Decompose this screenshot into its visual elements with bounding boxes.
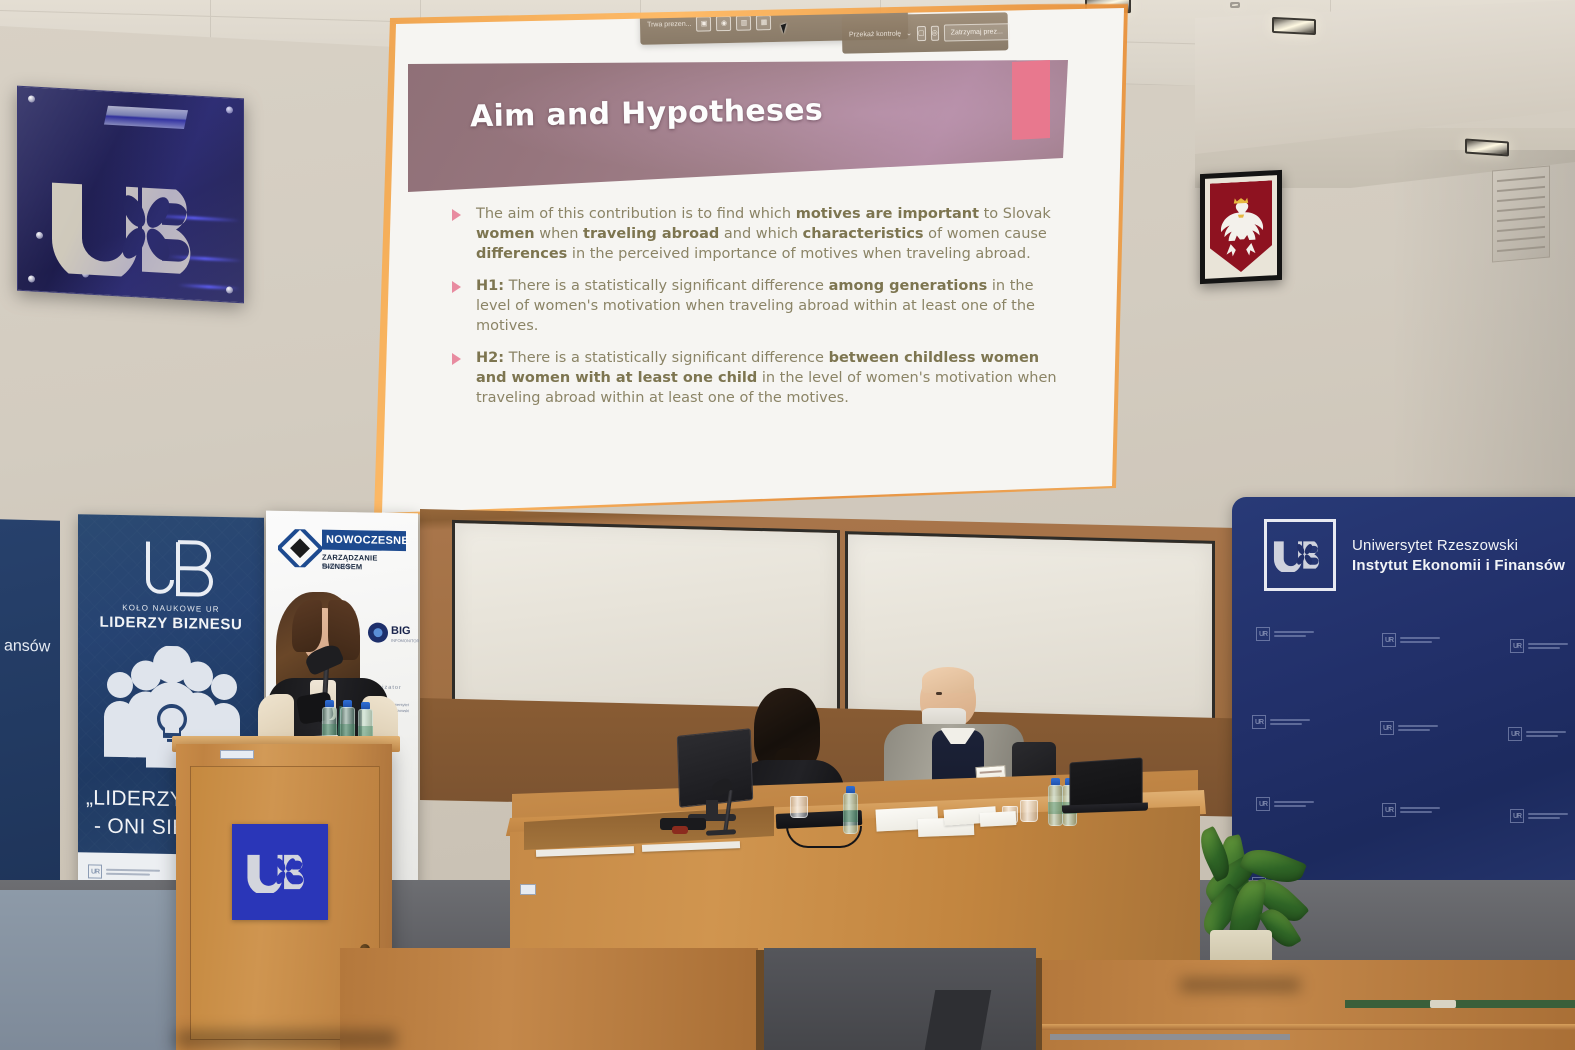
plaque-light-strip [104,106,188,129]
bullet-text: H2: There is a statistically significant… [476,348,1070,408]
banner-ur-watermark-5: UR [1380,721,1438,735]
drinking-glass [790,796,808,818]
presenter-toolbar-secondary[interactable]: Przekaż kontrolę ⌄ ▢ ◎ Zatrzymaj prez... [842,12,1009,53]
slide-bullet-h1: H1: There is a statistically significant… [450,276,1070,336]
podium-ur-logo-mark [245,851,315,893]
footer-ur-logo: UR [88,864,102,878]
slide-body: The aim of this contribution is to find … [450,204,1070,420]
watermark-ur-logo: UR [1382,803,1396,817]
podium-ur-logo [232,824,328,920]
share-screen-icon[interactable]: ▣ [696,16,711,31]
ur-logo-mark [46,176,218,282]
laptop-screen [1069,757,1142,807]
panelist-right-eye [936,692,942,695]
speaker-hair-front-left [292,600,322,652]
ceiling-light-2 [1272,17,1316,35]
slide-pink-accent [1012,60,1050,140]
stage-gap-floor [764,948,1036,1050]
panelist-right-bald-crown [922,667,974,693]
desk-paper-4 [980,811,1017,827]
camera-icon[interactable]: ◎ [930,25,938,40]
watermark-ur-logo: UR [1382,633,1396,647]
give-control-label[interactable]: Przekaż kontrolę [849,30,901,38]
banner-ur-watermark-9: UR [1510,809,1568,823]
water-bottle [1048,778,1063,826]
stage-panel-seam [756,950,764,1050]
watermark-ur-logo: UR [1510,639,1524,653]
drinking-glass [1020,800,1038,822]
lb-logo-mark [126,537,218,601]
mute-icon[interactable]: ▢ [917,25,926,40]
banner-nzb-url: www.nzb.pl [322,564,352,571]
presenter-view-icon[interactable]: ▦ [756,15,771,30]
ur-logo-plaque [17,86,244,304]
banner-ur-watermark-7: UR [1256,797,1314,811]
bullet-text: The aim of this contribution is to find … [476,204,1070,264]
plaque-glow-2 [168,255,242,262]
podium-shadow [176,1030,396,1048]
banner-ur-line1: Uniwersytet Rzeszowski [1352,537,1518,554]
stage-gap-shadow [925,990,992,1050]
ur-banner-logo-mark [1272,538,1328,572]
stage-front-panel-left [340,948,758,1050]
banner-ur-watermark-4: UR [1252,715,1310,729]
slide-title: Aim and Hypotheses [470,93,824,135]
projection-screen: Aim and Hypotheses The aim of this contr… [372,8,1124,513]
watermark-ur-logo: UR [1510,809,1524,823]
slide-bullet-aim: The aim of this contribution is to find … [450,204,1070,264]
banner-ur-line2: Instytut Ekonomii i Finansów [1352,557,1565,574]
nzb-title-bar: NOWOCZESNE [322,530,406,551]
layout-icon[interactable]: ▥ [736,15,751,30]
banner-ur-watermark-3: UR [1510,639,1568,653]
chevron-down-icon[interactable]: ⌄ [906,29,912,37]
banner-ur-watermark-8: UR [1382,803,1440,817]
desk-label-plate [520,884,536,895]
stop-presenting-button[interactable]: Zatrzymaj prez... [944,23,1010,41]
stage-bottom-trim [1050,1034,1290,1040]
banner-liderzy-line1: KOŁO NAUKOWE UR [78,602,264,615]
stage-green-trim [1345,1000,1575,1008]
desk-red-connector [672,826,688,834]
ur-banner-logo-box [1264,519,1336,591]
slide-bullet-h2: H2: There is a statistically significant… [450,348,1070,408]
plaque-glow-3 [178,284,240,290]
podium-plate [220,750,254,759]
plant-shadow [1180,978,1300,992]
banner-ur-watermark-1: UR [1256,627,1314,641]
slide-surface: Aim and Hypotheses The aim of this contr… [372,8,1124,513]
banner-ur-watermark-2: UR [1382,633,1440,647]
watermark-ur-logo: UR [1380,721,1394,735]
bullet-text: H1: There is a statistically significant… [476,276,1070,336]
banner-left-edge-text: ansów [4,637,50,656]
banner-ur-watermark-6: UR [1508,727,1566,741]
watermark-ur-logo: UR [1252,715,1266,729]
water-bottle [843,786,858,834]
banner-left-edge: ansów [0,519,60,905]
stage-floor-light [1430,1000,1456,1008]
right-wall-shadow [1390,150,1575,550]
bullet-triangle-icon [452,281,461,293]
bullet-triangle-icon [452,353,461,365]
ceiling-light-4 [1230,2,1240,8]
banner-nzb-title: NOWOCZESNE [326,534,409,547]
bullet-triangle-icon [452,209,461,221]
presenting-status-label: Trwa prezen... [647,20,692,28]
desk-monitor [677,728,753,808]
lecture-hall-scene: Aim and Hypotheses The aim of this contr… [0,0,1575,1050]
person-view-icon[interactable]: ◉ [716,15,731,30]
stage-edge-trim [1040,1024,1575,1030]
watermark-ur-logo: UR [1256,797,1270,811]
polish-eagle-emblem [1200,170,1282,284]
nzb-diamond-icon [278,529,322,568]
plaque-glow-1 [148,214,240,222]
watermark-ur-logo: UR [1508,727,1522,741]
watermark-ur-logo: UR [1256,627,1270,641]
banner-liderzy-line2: LIDERZY BIZNESU [78,613,264,634]
